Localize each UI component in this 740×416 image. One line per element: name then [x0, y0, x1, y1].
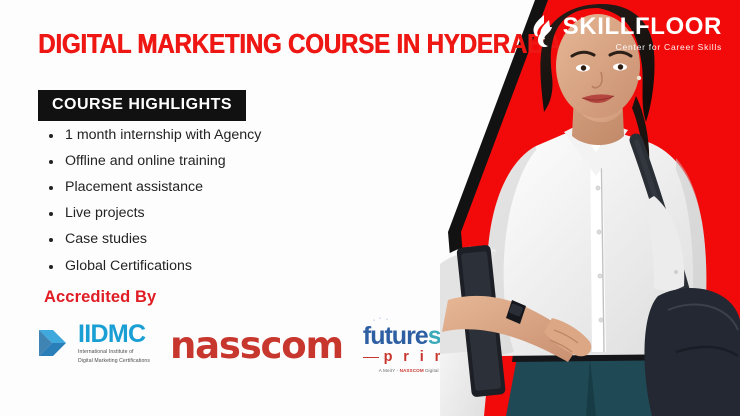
tagline-prefix: A MeitY - [379, 368, 400, 373]
brand-tagline: Center for Career Skills [616, 42, 722, 52]
chevron-arrow-icon [36, 325, 74, 363]
iidmc-subtitle-line1: International Institute of [78, 349, 150, 357]
list-item: Placement assistance [46, 180, 261, 196]
promotional-poster: SKILLFLOOR Center for Career Skills DIGI… [0, 0, 740, 416]
brand-text: SKILLFLOOR Center for Career Skills [563, 14, 722, 52]
list-item: Offline and online training [46, 154, 261, 170]
iidmc-subtitle-line2: Digital Marketing Certifications [78, 358, 150, 366]
flame-s-icon [530, 14, 556, 48]
nasscom-logo: nasscom [170, 327, 343, 364]
person-photo [440, 0, 740, 416]
futureskills-word-future: future [363, 324, 428, 349]
iidmc-logo: IIDMC International Institute of Digital… [36, 322, 150, 366]
rule-left [363, 357, 379, 358]
list-item: Case studies [46, 232, 261, 248]
accredited-by-label: Accredited By [44, 288, 156, 307]
list-item: Live projects [46, 206, 261, 222]
skillfloor-logo: SKILLFLOOR Center for Career Skills [530, 14, 722, 52]
course-highlights-badge: COURSE HIGHLIGHTS [38, 90, 246, 121]
course-highlights-list: 1 month internship with Agency Offline a… [46, 128, 261, 285]
list-item: Global Certifications [46, 259, 261, 275]
brand-name: SKILLFLOOR [563, 14, 722, 39]
list-item: 1 month internship with Agency [46, 128, 261, 144]
accreditation-logos: IIDMC International Institute of Digital… [36, 315, 490, 373]
iidmc-name: IIDMC [78, 322, 150, 347]
tagline-brand: NASSCOM [400, 368, 424, 373]
iidmc-text: IIDMC International Institute of Digital… [78, 322, 150, 366]
